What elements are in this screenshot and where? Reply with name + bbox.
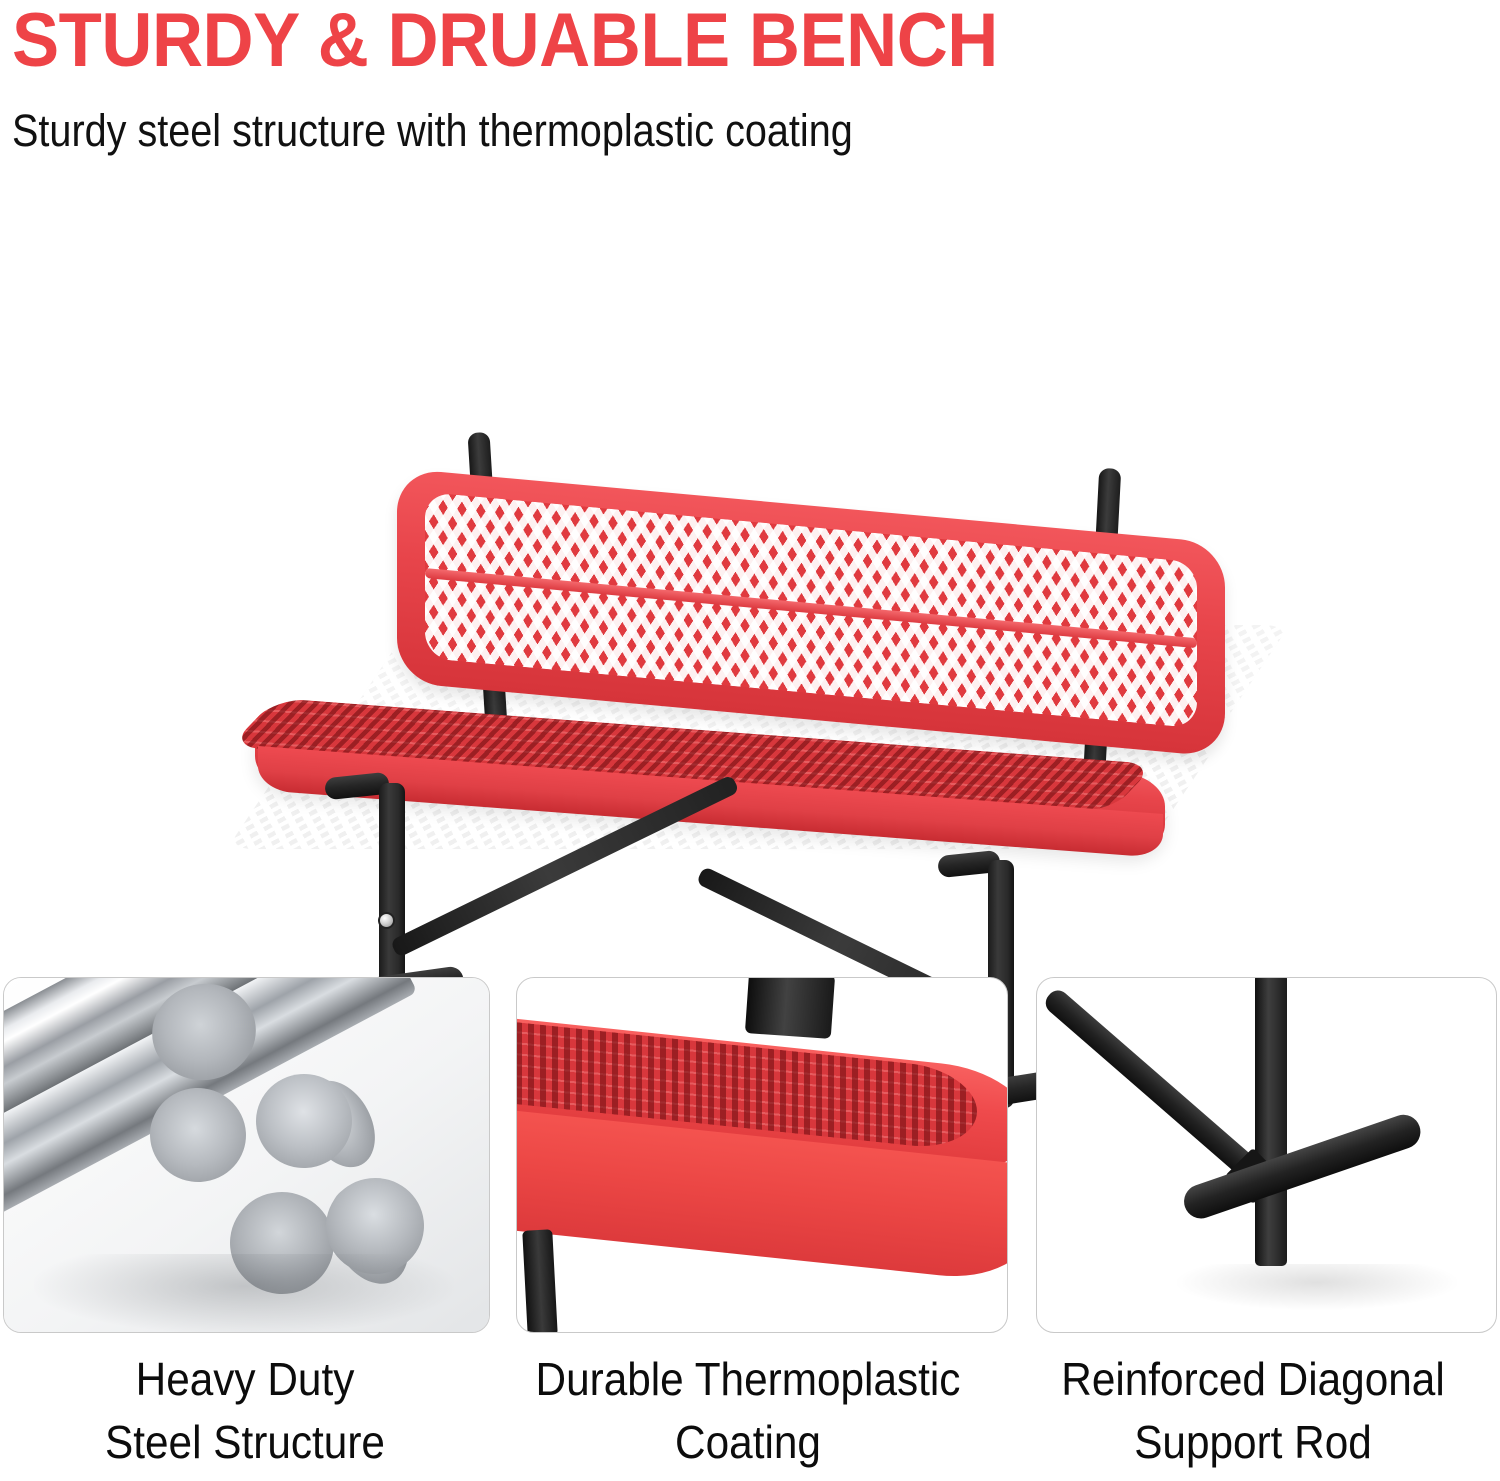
steel-bars-image: [4, 978, 489, 1332]
page-title: STURDY & DRUABLE BENCH: [12, 0, 998, 86]
caption-line: Coating: [511, 1411, 986, 1474]
caption-diagonal-support-rod: Reinforced Diagonal Support Rod: [1026, 1348, 1480, 1475]
diagonal-rod: [1041, 986, 1261, 1181]
feature-card-row: [0, 977, 1500, 1333]
brace-bolt-left: [378, 912, 395, 929]
caption-line: Reinforced Diagonal: [1026, 1348, 1480, 1411]
caption-line: Steel Structure: [20, 1411, 471, 1474]
support-rod-image: [1037, 978, 1496, 1332]
feature-captions: Heavy Duty Steel Structure Durable Therm…: [0, 1348, 1500, 1475]
seat-closeup-image: [517, 978, 1007, 1332]
caption-heavy-duty-steel: Heavy Duty Steel Structure: [20, 1348, 471, 1475]
caption-line: Support Rod: [1026, 1411, 1480, 1474]
support-rod-ground-shadow: [1177, 1264, 1457, 1310]
feature-card-diagonal-support-rod[interactable]: [1036, 977, 1497, 1333]
vertical-leg-post: [1255, 978, 1287, 1266]
hero-product-image: [0, 200, 1500, 960]
caption-thermoplastic-coating: Durable Thermoplastic Coating: [511, 1348, 986, 1475]
feature-card-heavy-duty-steel[interactable]: [3, 977, 490, 1333]
page-subtitle: Sturdy steel structure with thermoplasti…: [12, 104, 853, 157]
leg-post-left: [379, 783, 405, 998]
seat-closeup-post: [745, 978, 835, 1039]
caption-line: Heavy Duty: [20, 1348, 471, 1411]
steel-bars-ground-shadow: [34, 1254, 454, 1332]
feature-card-thermoplastic-coating[interactable]: [516, 977, 1008, 1333]
caption-line: Durable Thermoplastic: [511, 1348, 986, 1411]
seat-closeup-leg: [522, 1229, 558, 1332]
